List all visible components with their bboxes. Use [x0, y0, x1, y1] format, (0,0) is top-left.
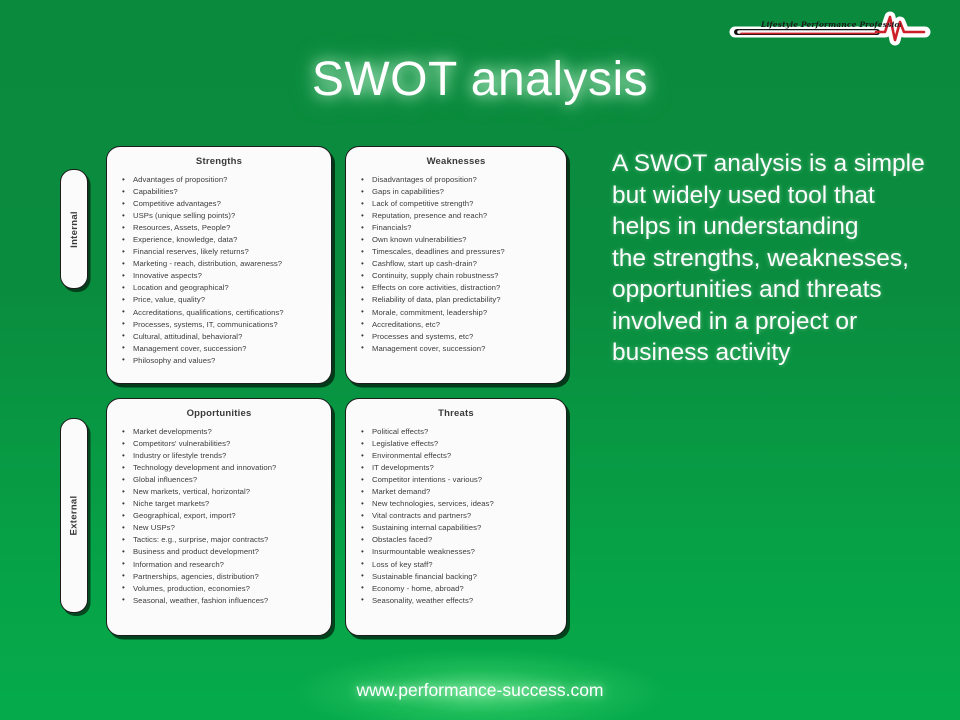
list-item: Lack of competitive strength?: [372, 198, 556, 210]
list-item: Effects on core activities, distraction?: [372, 282, 556, 294]
list-item: Obstacles faced?: [372, 534, 556, 546]
list-item: Market developments?: [133, 426, 321, 438]
list-item: Price, value, quality?: [133, 294, 321, 306]
list-item: Tactics: e.g., surprise, major contracts…: [133, 534, 321, 546]
company-logo: Lifestyle Performance Professionals: [727, 8, 933, 46]
quadrant-weaknesses-list: Disadvantages of proposition?Gaps in cap…: [354, 174, 558, 355]
list-item: Management cover, succession?: [133, 343, 321, 355]
axis-label-external: External: [60, 418, 88, 613]
list-item: Global influences?: [133, 474, 321, 486]
list-item: Resources, Assets, People?: [133, 222, 321, 234]
axis-label-internal: Internal: [60, 169, 88, 289]
list-item: Financials?: [372, 222, 556, 234]
list-item: Processes and systems, etc?: [372, 331, 556, 343]
list-item: Competitive advantages?: [133, 198, 321, 210]
quadrant-strengths: Strengths Advantages of proposition?Capa…: [106, 146, 332, 384]
quadrant-strengths-title: Strengths: [115, 156, 323, 167]
description-line: opportunities and threats: [612, 274, 942, 306]
quadrant-opportunities: Opportunities Market developments?Compet…: [106, 398, 332, 636]
list-item: Capabilities?: [133, 186, 321, 198]
list-item: Accreditations, qualifications, certific…: [133, 307, 321, 319]
list-item: Experience, knowledge, data?: [133, 234, 321, 246]
list-item: Innovative aspects?: [133, 270, 321, 282]
description-line: the strengths, weaknesses,: [612, 243, 942, 275]
swot-slide: Lifestyle Performance Professionals SWOT…: [0, 0, 960, 720]
list-item: Advantages of proposition?: [133, 174, 321, 186]
list-item: New USPs?: [133, 522, 321, 534]
quadrant-strengths-list: Advantages of proposition?Capabilities?C…: [115, 174, 323, 367]
list-item: Processes, systems, IT, communications?: [133, 319, 321, 331]
list-item: USPs (unique selling points)?: [133, 210, 321, 222]
list-item: Loss of key staff?: [372, 559, 556, 571]
list-item: Disadvantages of proposition?: [372, 174, 556, 186]
list-item: Sustaining internal capabilities?: [372, 522, 556, 534]
list-item: Environmental effects?: [372, 450, 556, 462]
quadrant-threats-list: Political effects?Legislative effects?En…: [354, 426, 558, 607]
list-item: Economy - home, abroad?: [372, 583, 556, 595]
description-line: involved in a project or: [612, 306, 942, 338]
list-item: Partnerships, agencies, distribution?: [133, 571, 321, 583]
list-item: Legislative effects?: [372, 438, 556, 450]
axis-label-external-text: External: [69, 496, 80, 536]
quadrant-opportunities-list: Market developments?Competitors' vulnera…: [115, 426, 323, 607]
list-item: Seasonal, weather, fashion influences?: [133, 595, 321, 607]
list-item: Geographical, export, import?: [133, 510, 321, 522]
list-item: Cultural, attitudinal, behavioral?: [133, 331, 321, 343]
list-item: Reliability of data, plan predictability…: [372, 294, 556, 306]
description-line: business activity: [612, 337, 942, 369]
list-item: Philosophy and values?: [133, 355, 321, 367]
description-paragraph: A SWOT analysis is a simplebut widely us…: [612, 148, 942, 369]
list-item: Business and product development?: [133, 546, 321, 558]
list-item: Gaps in capabilities?: [372, 186, 556, 198]
list-item: Political effects?: [372, 426, 556, 438]
list-item: Information and research?: [133, 559, 321, 571]
description-line: A SWOT analysis is a simple: [612, 148, 942, 180]
list-item: Reputation, presence and reach?: [372, 210, 556, 222]
quadrant-threats-title: Threats: [354, 408, 558, 419]
list-item: Marketing - reach, distribution, awarene…: [133, 258, 321, 270]
list-item: Accreditations, etc?: [372, 319, 556, 331]
list-item: Market demand?: [372, 486, 556, 498]
list-item: Morale, commitment, leadership?: [372, 307, 556, 319]
list-item: Management cover, succession?: [372, 343, 556, 355]
list-item: Technology development and innovation?: [133, 462, 321, 474]
page-title: SWOT analysis: [0, 52, 960, 107]
axis-label-internal-text: Internal: [69, 211, 80, 248]
description-line: helps in understanding: [612, 211, 942, 243]
list-item: Financial reserves, likely returns?: [133, 246, 321, 258]
list-item: Volumes, production, economies?: [133, 583, 321, 595]
list-item: Sustainable financial backing?: [372, 571, 556, 583]
list-item: Cashflow, start up cash-drain?: [372, 258, 556, 270]
quadrant-threats: Threats Political effects?Legislative ef…: [345, 398, 567, 636]
quadrant-weaknesses: Weaknesses Disadvantages of proposition?…: [345, 146, 567, 384]
list-item: IT developments?: [372, 462, 556, 474]
list-item: New markets, vertical, horizontal?: [133, 486, 321, 498]
quadrant-weaknesses-title: Weaknesses: [354, 156, 558, 167]
logo-text: Lifestyle Performance Professionals: [761, 20, 901, 29]
list-item: Competitor intentions - various?: [372, 474, 556, 486]
list-item: New technologies, services, ideas?: [372, 498, 556, 510]
description-line: but widely used tool that: [612, 180, 942, 212]
list-item: Continuity, supply chain robustness?: [372, 270, 556, 282]
quadrant-opportunities-title: Opportunities: [115, 408, 323, 419]
list-item: Competitors' vulnerabilities?: [133, 438, 321, 450]
list-item: Own known vulnerabilities?: [372, 234, 556, 246]
list-item: Industry or lifestyle trends?: [133, 450, 321, 462]
list-item: Timescales, deadlines and pressures?: [372, 246, 556, 258]
list-item: Niche target markets?: [133, 498, 321, 510]
footer-website-url: www.performance-success.com: [0, 680, 960, 701]
list-item: Location and geographical?: [133, 282, 321, 294]
list-item: Vital contracts and partners?: [372, 510, 556, 522]
list-item: Seasonality, weather effects?: [372, 595, 556, 607]
list-item: Insurmountable weaknesses?: [372, 546, 556, 558]
